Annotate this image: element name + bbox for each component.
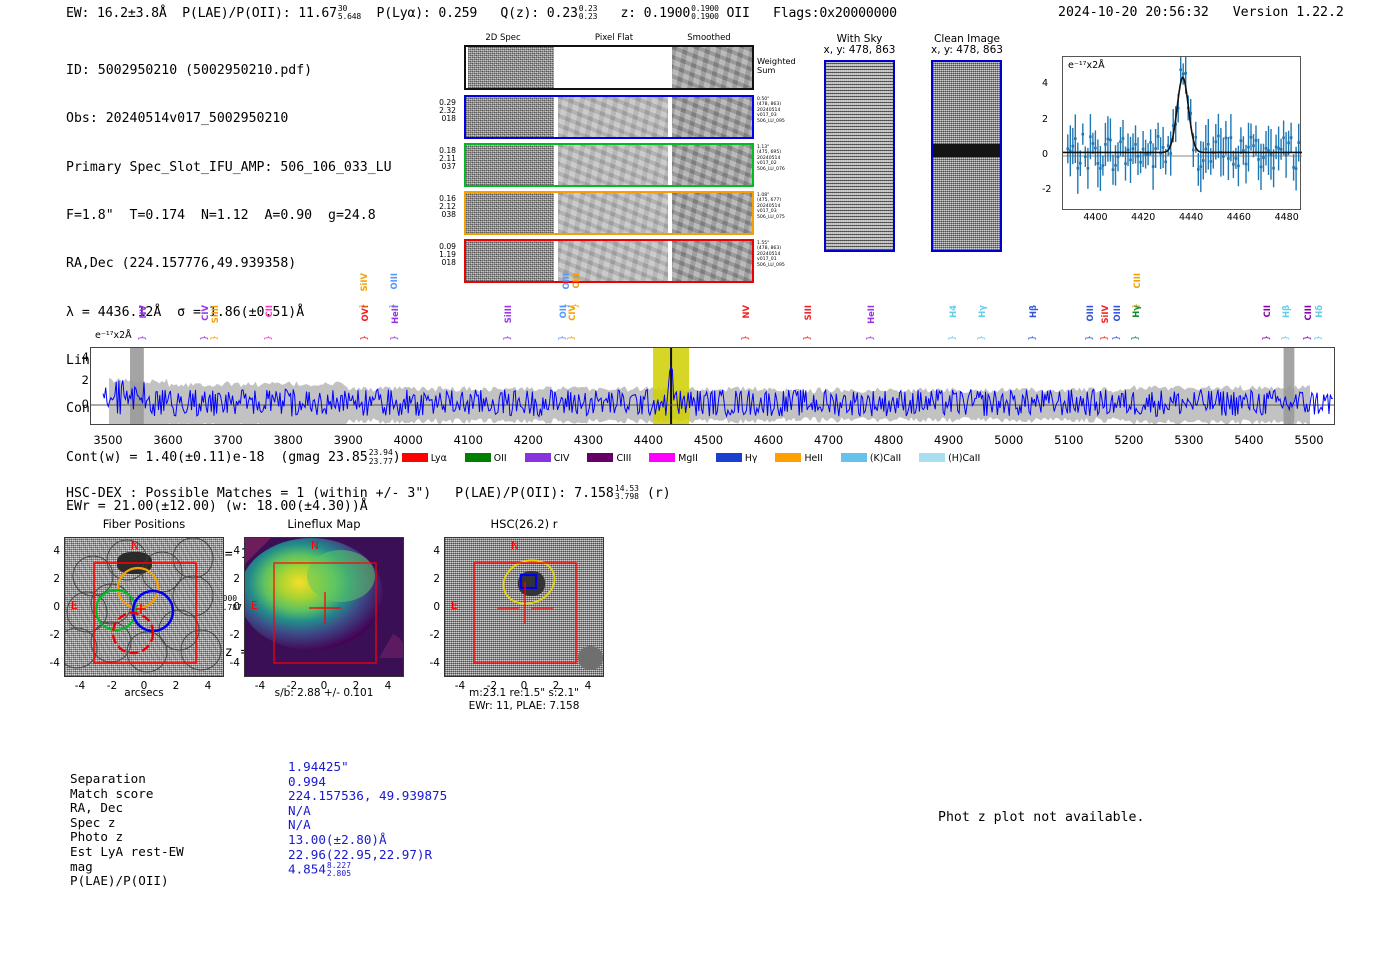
spec2d-col-title-pixelflat: Pixel Flat	[574, 33, 654, 43]
emission-line-brace-26: }	[1304, 335, 1313, 341]
legend-item-heii: HeII	[775, 453, 822, 464]
full-spectrum-xtick: 4200	[514, 433, 543, 447]
emission-line-label-siii-14: SIII	[804, 305, 812, 320]
with-sky-image[interactable]	[824, 60, 895, 252]
hsc-overlay-svg	[445, 538, 604, 677]
legend-swatch	[649, 453, 675, 462]
fiber-row-1-2dspec	[466, 145, 554, 185]
emission-line-brace-11: }	[559, 335, 568, 341]
clean-image-coords: x, y: 478, 863	[913, 44, 1021, 56]
hscdex-plae-range: 14.533.798	[615, 485, 639, 501]
header-z: z: 0.1900	[620, 6, 690, 21]
full-spectrum-xtick: 4300	[574, 433, 603, 447]
fiber-row-0[interactable]	[464, 95, 754, 139]
info-seeing: F=1.8" T=0.174 N=1.12 A=0.90 g=24.8	[66, 208, 401, 224]
line-fit-xtick: 4460	[1227, 212, 1251, 223]
match-table-key: RA, Dec	[70, 801, 123, 816]
compass-e-fiber: E	[71, 600, 78, 612]
emission-line-brace-21: }	[1113, 335, 1122, 341]
emission-line-label-h4-16: H4	[949, 305, 957, 318]
legend-swatch	[587, 453, 613, 462]
header-plae-label: P(LAE)/P(OII):	[182, 6, 290, 21]
emission-line-label-ciii-26: CIII	[1304, 305, 1312, 321]
full-spectrum-ytick: 4	[82, 350, 89, 364]
emission-line-brace-14: }	[804, 335, 813, 341]
match-table-value: N/A	[288, 818, 311, 833]
fiber-row-2-values: 0.162.12038	[422, 195, 456, 219]
match-table-key: Separation	[70, 772, 146, 787]
line-fit-plot-area: e⁻¹⁷x2Å	[1062, 56, 1301, 210]
emission-line-label-nv-0: NV	[139, 305, 147, 319]
fiber-row-2[interactable]	[464, 191, 754, 235]
fiber-positions-ytick: 4	[42, 545, 60, 557]
emission-line-brace-19: }	[1086, 335, 1095, 341]
emission-line-label-siiv-5: SiIV	[360, 273, 368, 292]
fiber-positions-ytick: 0	[42, 601, 60, 613]
weighted-sum-pixelflat	[558, 47, 668, 88]
fiber-positions-image[interactable]: N E	[64, 537, 224, 677]
hsc-r-image-ytick: 4	[422, 545, 440, 557]
emission-line-label-hβ-18: Hβ	[1029, 305, 1037, 318]
match-table-plae-range: 8.2272.805	[327, 862, 351, 878]
emission-line-label-ciii-23: CIII	[1133, 273, 1141, 289]
fiber-row-2-smoothed	[672, 193, 752, 233]
legend-item-oii: OII	[465, 453, 507, 464]
line-fit-xtick: 4480	[1275, 212, 1299, 223]
emission-line-label-siiv-20: SiIV	[1101, 305, 1109, 324]
legend-swatch	[402, 453, 428, 462]
fiber-row-1-meta: 1.13"(475, 695)20240514v017_02506_LU_076	[757, 145, 803, 172]
full-spectrum-xtick: 3700	[213, 433, 242, 447]
match-table-value: 224.157536, 49.939875	[288, 789, 447, 804]
header-timestamp-version: 2024-10-20 20:56:32 Version 1.22.2	[1058, 5, 1344, 20]
legend-label: CIV	[554, 453, 570, 464]
emission-line-label-ciii-10: CIII	[572, 273, 580, 289]
match-table-key: P(LAE)/P(OII)	[70, 874, 169, 889]
full-spectrum-xtick: 4800	[874, 433, 903, 447]
full-spectrum-xtick: 3800	[274, 433, 303, 447]
weighted-sum-label: Weighted Sum	[757, 57, 796, 75]
fiber-row-2-2dspec	[466, 193, 554, 233]
legend-label: Hγ	[745, 453, 758, 464]
hsc-r-image-ytick: -2	[422, 629, 440, 641]
full-spectrum-chart[interactable]: e⁻¹⁷x2Å NV}CIV}SiIII}CII}OVI}SiIV}HeII}O…	[60, 265, 1340, 465]
full-spectrum-ytick: 2	[82, 373, 89, 387]
fiber-row-1[interactable]	[464, 143, 754, 187]
match-table-key: Est LyA rest-EW	[70, 845, 184, 860]
line-fit-ytick: 2	[1042, 114, 1048, 125]
clean-image-dark-band	[933, 144, 1000, 157]
timestamp: 2024-10-20 20:56:32	[1058, 5, 1209, 20]
fiber-row-2-meta: 1.08"(475, 677)20240514v017_03506_LU_075	[757, 193, 803, 220]
lineflux-map-ytick: 4	[222, 545, 240, 557]
fiber-row-3-meta: 1.55"(478, 863)20240514v017_01506_LU_095	[757, 241, 803, 268]
legend-swatch	[465, 453, 491, 462]
emission-line-brace-17: }	[978, 335, 987, 341]
full-spectrum-xtick: 4500	[694, 433, 723, 447]
full-spectrum-xtick: 5000	[994, 433, 1023, 447]
header-plae-value: 11.67	[298, 6, 337, 21]
legend-swatch	[919, 453, 945, 462]
legend-item-hcaii: (H)CaII	[919, 453, 980, 464]
lineflux-map-ytick: 2	[222, 573, 240, 585]
match-table-value: 0.994	[288, 775, 326, 790]
fiber-row-3-values: 0.091.19018	[422, 243, 456, 267]
emission-line-brace-24: }	[1263, 335, 1272, 341]
legend-label: OII	[494, 453, 507, 464]
fiber-row-1-smoothed	[672, 145, 752, 185]
fiber-row-0-smoothed	[672, 97, 752, 137]
full-spectrum-xtick: 5100	[1054, 433, 1083, 447]
emission-line-label-cii-24: CII	[1263, 305, 1271, 317]
header-ew: EW: 16.2±3.8Å	[66, 6, 167, 21]
emission-line-label-oiii-7: OIII	[390, 273, 398, 289]
match-table-key: mag	[70, 860, 93, 875]
emission-line-brace-16: }	[949, 335, 958, 341]
match-table-value: 4.8548.2272.805	[288, 862, 351, 878]
line-fit-ytick: -2	[1042, 184, 1051, 195]
hsc-r-caption2: EWr: 11, PLAE: 7.158	[444, 700, 604, 712]
emission-line-label-civ-1: CIV	[201, 305, 209, 321]
lineflux-map-image[interactable]: N E	[244, 537, 404, 677]
emission-line-brace-9: }	[568, 335, 577, 341]
legend-swatch	[716, 453, 742, 462]
header-plya: P(Lyα): 0.259	[377, 6, 478, 21]
fiber-row-0-meta: 0.50"(478, 863)20240514v017_03506_LU_095	[757, 97, 803, 124]
lineflux-map-title: Lineflux Map	[244, 517, 404, 531]
fiber-positions-ytick: -4	[42, 657, 60, 669]
fiber-positions-ytick: 2	[42, 573, 60, 585]
line-fit-xtick: 4400	[1083, 212, 1107, 223]
lineflux-map-ytick: -2	[222, 629, 240, 641]
full-spectrum-xtick: 3500	[93, 433, 122, 447]
match-table-key: Match score	[70, 787, 153, 802]
full-spectrum-xtick: 3900	[334, 433, 363, 447]
legend-label: MgII	[678, 453, 698, 464]
info-obs: Obs: 20240514v017_5002950210	[66, 111, 401, 127]
hsc-r-title: HSC(26.2) r	[444, 517, 604, 531]
emission-line-brace-1: }	[201, 335, 210, 341]
legend-item-ly: Lyα	[402, 453, 447, 464]
line-fit-xtick: 4420	[1131, 212, 1155, 223]
full-spectrum-xtick: 3600	[153, 433, 182, 447]
emission-line-brace-22: }	[1132, 335, 1141, 341]
legend-item-ciii: CIII	[587, 453, 631, 464]
match-table-key: Photo z	[70, 830, 123, 845]
full-spectrum-xtick: 5200	[1114, 433, 1143, 447]
weighted-sum-smoothed	[672, 47, 752, 88]
emission-line-label-cii-3: CII	[265, 305, 273, 317]
line-fit-ytick: 4	[1042, 78, 1048, 89]
full-spectrum-plot-area: e⁻¹⁷x2Å	[90, 347, 1335, 425]
photoz-unavailable-note: Phot z plot not available.	[938, 810, 1144, 825]
emission-line-brace-15: }	[867, 335, 876, 341]
hsc-r-image[interactable]: N E	[444, 537, 604, 677]
legend-label: (H)CaII	[948, 453, 980, 464]
emission-line-label-hδ-27: Hδ	[1315, 305, 1323, 318]
emission-line-legend: LyαOIICIVCIIIMgIIHγHeII(K)CaII(H)CaII	[60, 453, 1340, 464]
line-fit-xtick: 4440	[1179, 212, 1203, 223]
emission-line-brace-20: }	[1101, 335, 1110, 341]
emission-line-brace-18: }	[1029, 335, 1038, 341]
emission-line-brace-0: }	[139, 335, 148, 341]
emission-line-label-hγ-17: Hγ	[978, 305, 986, 318]
emission-line-brace-8: }	[504, 335, 513, 341]
compass-e-hsc: E	[451, 600, 458, 612]
header-qz-range: 0.230.23	[579, 5, 597, 21]
header-summary-line: EW: 16.2±3.8Å P(LAE)/P(OII): 11.67305.64…	[66, 5, 897, 21]
hscdex-plae-label: P(LAE)/P(OII):	[455, 486, 566, 501]
spec2d-weighted-sum-row[interactable]	[464, 45, 754, 90]
hsc-r-panel[interactable]: HSC(26.2) r N E -4-2024420-2-4 m:23.1 re…	[444, 537, 604, 677]
emission-line-brace-25: }	[1282, 335, 1291, 341]
fiber-row-1-values: 0.182.11037	[422, 147, 456, 171]
emission-line-brace-10: }	[572, 303, 581, 309]
legend-label: Lyα	[431, 453, 447, 464]
full-spectrum-xtick: 5300	[1174, 433, 1203, 447]
legend-swatch	[525, 453, 551, 462]
hscdex-summary-line: HSC-DEX : Possible Matches = 1 (within +…	[66, 485, 671, 501]
emission-line-label-siiii-2: SiIII	[211, 305, 219, 323]
match-table-value: 22.96(22.95,22.97)R	[288, 848, 432, 863]
full-spectrum-xtick: 5500	[1294, 433, 1323, 447]
emission-line-label-oiii-12: OIII	[562, 273, 570, 289]
hscdex-plae-value: 7.158	[574, 486, 614, 501]
hsc-r-image-ytick: 0	[422, 601, 440, 613]
legend-item-mgii: MgII	[649, 453, 698, 464]
emission-line-brace-6: }	[391, 335, 400, 341]
hscdex-prefix: HSC-DEX : Possible Matches = 1 (within +…	[66, 486, 431, 501]
fiber-row-0-values: 0.292.32018	[422, 99, 456, 123]
lineflux-map-svg	[245, 538, 404, 677]
fiber-row-2-pixelflat	[558, 193, 668, 233]
version: Version 1.22.2	[1233, 5, 1344, 20]
match-table-value: N/A	[288, 804, 311, 819]
emission-line-brace-2: }	[211, 335, 220, 341]
legend-label: (K)CaII	[870, 453, 901, 464]
hsc-r-caption: m:23.1 re:1.5" s:2.1"	[444, 687, 604, 699]
full-spectrum-xtick: 4400	[634, 433, 663, 447]
full-spectrum-xtick: 4000	[394, 433, 423, 447]
emission-line-brace-4: }	[361, 335, 370, 341]
hscdex-plae-filter: (r)	[647, 486, 671, 501]
header-flags: Flags:0x20000000	[773, 6, 897, 21]
legend-label: HeII	[804, 453, 822, 464]
lineflux-map-ytick: -4	[222, 657, 240, 669]
emission-line-brace-12: }	[562, 303, 571, 309]
fiber-positions-title: Fiber Positions	[64, 517, 224, 531]
lineflux-map-caption: s/b: 2.88 +/- 0.101	[244, 687, 404, 699]
emission-line-label-oiii-21: OIII	[1113, 305, 1121, 321]
hsc-r-image-ytick: -4	[422, 657, 440, 669]
compass-e-lineflux: E	[251, 600, 258, 612]
emission-line-label-nv-13: NV	[742, 305, 750, 319]
emission-line-brace-23: }	[1133, 303, 1142, 309]
full-spectrum-xtick: 4600	[754, 433, 783, 447]
full-spectrum-svg	[91, 348, 1334, 424]
spec2d-panel-group: 2D Spec Pixel Flat Smoothed Weighted Sum…	[424, 33, 754, 248]
legend-swatch	[775, 453, 801, 462]
fiber-row-0-pixelflat	[558, 97, 668, 137]
fiber-positions-ytick: -2	[42, 629, 60, 641]
legend-item-kcaii: (K)CaII	[841, 453, 901, 464]
fiber-row-1-pixelflat	[558, 145, 668, 185]
match-table-value: 13.00(±2.80)Å	[288, 833, 387, 848]
emission-line-label-heii-15: HeII	[867, 305, 875, 324]
compass-n-lineflux: N	[311, 540, 319, 552]
emission-line-brace-7: }	[390, 303, 399, 309]
info-id: ID: 5002950210 (5002950210.pdf)	[66, 63, 401, 79]
header-qz: Q(z): 0.23	[500, 6, 577, 21]
full-spectrum-ytick: 0	[82, 397, 89, 411]
emission-line-brace-3: }	[265, 335, 274, 341]
legend-item-h: Hγ	[716, 453, 758, 464]
with-sky-coords: x, y: 478, 863	[812, 44, 907, 56]
line-fit-svg	[1063, 57, 1302, 209]
emission-line-brace-27: }	[1315, 335, 1324, 341]
full-spectrum-xtick: 4100	[454, 433, 483, 447]
header-z-type: OII	[727, 6, 750, 21]
hsc-r-image-ytick: 2	[422, 573, 440, 585]
info-primary: Primary Spec_Slot_IFU_AMP: 506_106_033_L…	[66, 160, 401, 176]
match-table-key: Spec z	[70, 816, 116, 831]
fiber-positions-caption: arcsecs	[64, 687, 224, 699]
line-fit-chart[interactable]: e⁻¹⁷x2Å 44004420444044604480 -2024	[1040, 52, 1305, 232]
legend-label: CIII	[616, 453, 631, 464]
spec2d-col-title-smoothed: Smoothed	[669, 33, 749, 43]
header-z-range: 0.19000.1900	[691, 5, 719, 21]
fiber-row-0-2dspec	[466, 97, 554, 137]
fiber-positions-panel[interactable]: Fiber Positions N E -4-2024420-2-4 arcse…	[64, 537, 224, 677]
full-spectrum-xtick: 4900	[934, 433, 963, 447]
spec2d-col-title-2dspec: 2D Spec	[458, 33, 548, 43]
header-plae-range: 305.648	[338, 5, 361, 21]
match-table-value: 1.94425"	[288, 760, 349, 775]
emission-line-brace-5: }	[360, 303, 369, 309]
legend-swatch	[841, 453, 867, 462]
weighted-sum-2dspec	[468, 47, 554, 88]
full-spectrum-flux-unit: e⁻¹⁷x2Å	[95, 330, 132, 341]
full-spectrum-xtick: 5400	[1234, 433, 1263, 447]
legend-item-civ: CIV	[525, 453, 570, 464]
clean-image-image[interactable]	[931, 60, 1002, 252]
emission-line-label-hβ-25: Hβ	[1282, 305, 1290, 318]
emission-line-label-siiii-8: SiIII	[504, 305, 512, 323]
compass-n-fiber: N	[131, 540, 139, 552]
lineflux-map-ytick: 0	[222, 601, 240, 613]
full-spectrum-xtick: 4700	[814, 433, 843, 447]
compass-n-hsc: N	[511, 540, 519, 552]
fiber-overlay-svg	[65, 538, 224, 677]
emission-line-label-oiii-19: OIII	[1086, 305, 1094, 321]
line-fit-ytick: 0	[1042, 149, 1048, 160]
lineflux-map-panel[interactable]: Lineflux Map N E -4-2024420	[244, 537, 404, 677]
emission-line-brace-13: }	[742, 335, 751, 341]
